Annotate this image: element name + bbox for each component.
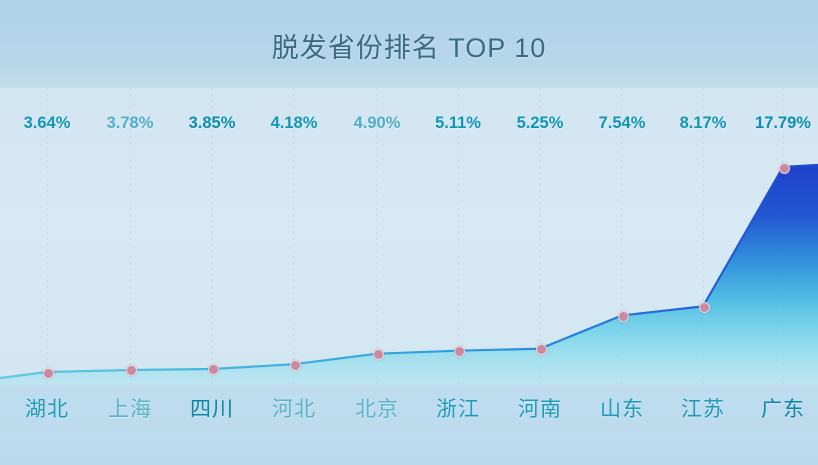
data-point <box>536 344 547 355</box>
data-point <box>454 346 465 357</box>
value-label: 5.11% <box>435 114 481 133</box>
category-label: 上海 <box>108 393 152 423</box>
chart-screenshot: 脱发省份排名 TOP 10 <box>0 0 818 465</box>
value-label: 7.54% <box>599 114 646 133</box>
category-label: 江苏 <box>681 393 725 423</box>
category-label: 浙江 <box>436 393 480 423</box>
data-point <box>373 349 384 360</box>
page-title: 脱发省份排名 TOP 10 <box>0 26 818 65</box>
x-axis-labels: 湖北上海四川河北北京浙江河南山东江苏广东 <box>0 385 818 430</box>
value-label: 3.64% <box>24 114 71 133</box>
category-label: 北京 <box>355 393 399 423</box>
value-label: 5.25% <box>517 114 564 133</box>
data-point <box>126 365 137 376</box>
value-label: 4.18% <box>271 114 318 133</box>
category-label: 四川 <box>190 393 234 423</box>
data-point <box>290 360 301 371</box>
category-label: 湖北 <box>25 393 69 423</box>
category-label: 广东 <box>761 393 805 423</box>
value-label: 4.90% <box>354 114 401 133</box>
data-point <box>779 163 790 174</box>
data-point <box>699 302 710 313</box>
data-point <box>43 368 54 379</box>
value-label: 17.79% <box>755 114 811 133</box>
value-label: 3.78% <box>107 114 154 133</box>
data-point <box>208 364 219 375</box>
category-label: 河北 <box>272 393 316 423</box>
value-label: 8.17% <box>680 114 727 133</box>
category-label: 河南 <box>518 393 562 423</box>
data-point <box>618 311 629 322</box>
category-label: 山东 <box>600 393 644 423</box>
value-label: 3.85% <box>189 114 236 133</box>
bottom-band <box>0 430 818 465</box>
